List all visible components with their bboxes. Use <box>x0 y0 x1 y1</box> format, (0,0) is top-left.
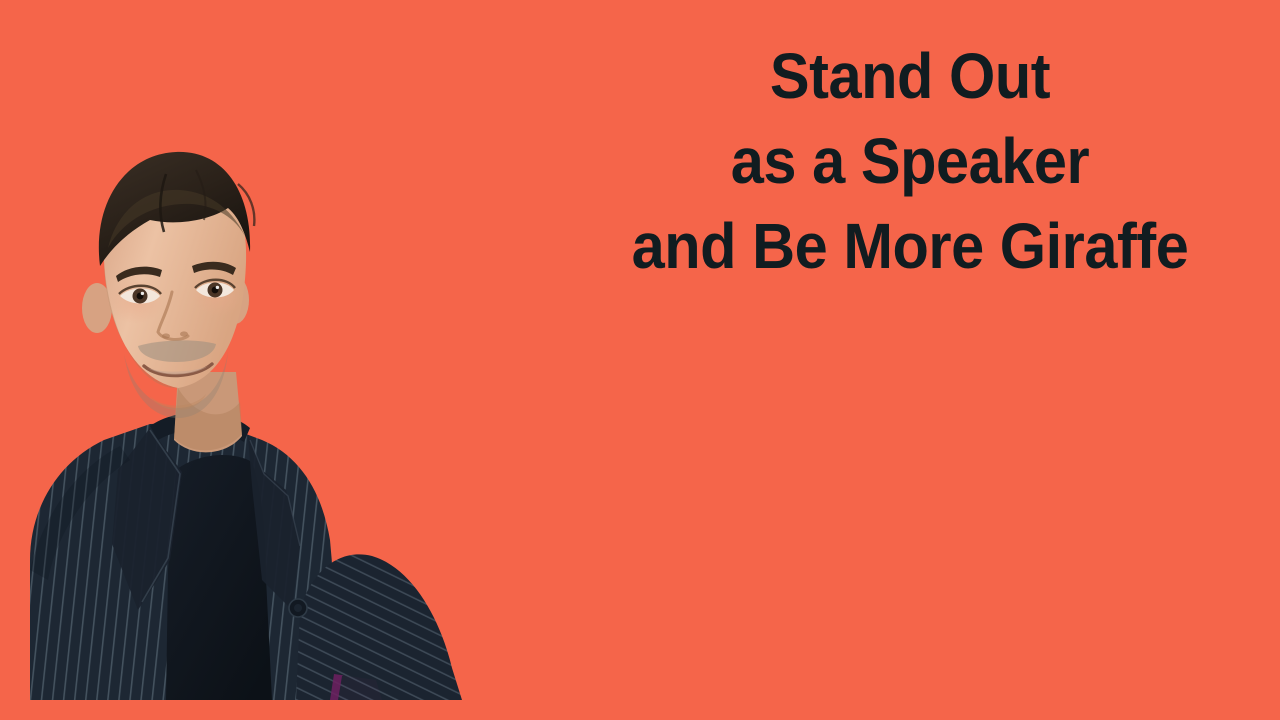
slide-canvas: Stand Out as a Speaker and Be More Giraf… <box>0 0 1280 720</box>
headline-line-2: as a Speaker <box>585 119 1236 204</box>
speaker-portrait <box>0 140 480 700</box>
headline-line-3: and Be More Giraffe <box>585 204 1236 289</box>
headline-block: Stand Out as a Speaker and Be More Giraf… <box>560 34 1260 289</box>
headline-line-1: Stand Out <box>585 34 1236 119</box>
